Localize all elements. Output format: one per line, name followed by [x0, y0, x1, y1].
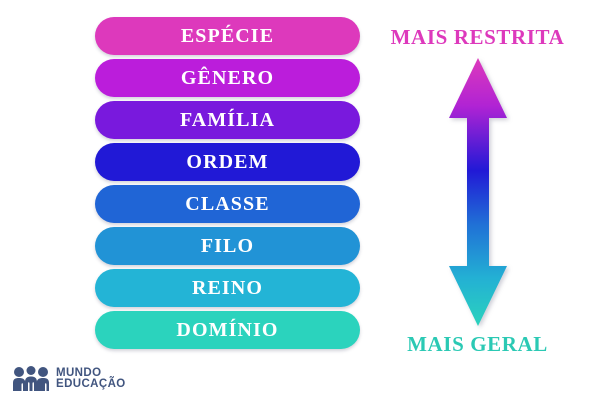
rank-bar-familia[interactable]: FAMÍLIA	[95, 101, 360, 139]
rank-bar-filo[interactable]: FILO	[95, 227, 360, 265]
rank-label: REINO	[192, 278, 263, 298]
rank-label: ESPÉCIE	[181, 26, 274, 46]
rank-bar-especie[interactable]: ESPÉCIE	[95, 17, 360, 55]
scale-caption-top: MAIS RESTRITA	[391, 27, 565, 48]
scale-indicator: MAIS RESTRITA MAIS GERAL	[365, 17, 590, 355]
arrow-container	[365, 56, 590, 328]
rank-label: FILO	[201, 236, 254, 256]
rank-bar-genero[interactable]: GÊNERO	[95, 59, 360, 97]
taxonomy-rank-list: ESPÉCIE GÊNERO FAMÍLIA ORDEM CLASSE FILO…	[95, 17, 360, 349]
rank-bar-ordem[interactable]: ORDEM	[95, 143, 360, 181]
scale-caption-bottom: MAIS GERAL	[407, 334, 548, 355]
rank-label: CLASSE	[185, 194, 269, 214]
taxonomy-infographic: ESPÉCIE GÊNERO FAMÍLIA ORDEM CLASSE FILO…	[0, 0, 600, 400]
rank-label: FAMÍLIA	[180, 110, 275, 130]
rank-bar-classe[interactable]: CLASSE	[95, 185, 360, 223]
rank-label: ORDEM	[186, 152, 268, 172]
double-headed-vertical-arrow-icon	[445, 56, 511, 328]
rank-bar-dominio[interactable]: DOMÍNIO	[95, 311, 360, 349]
rank-bar-reino[interactable]: REINO	[95, 269, 360, 307]
mundo-educacao-logo: MUNDO EDUCAÇÃO	[12, 366, 126, 392]
rank-label: DOMÍNIO	[176, 320, 278, 340]
logo-wordmark: MUNDO EDUCAÇÃO	[56, 368, 126, 391]
rank-label: GÊNERO	[181, 68, 274, 88]
people-group-icon	[12, 366, 50, 392]
logo-line-2: EDUCAÇÃO	[56, 379, 126, 391]
